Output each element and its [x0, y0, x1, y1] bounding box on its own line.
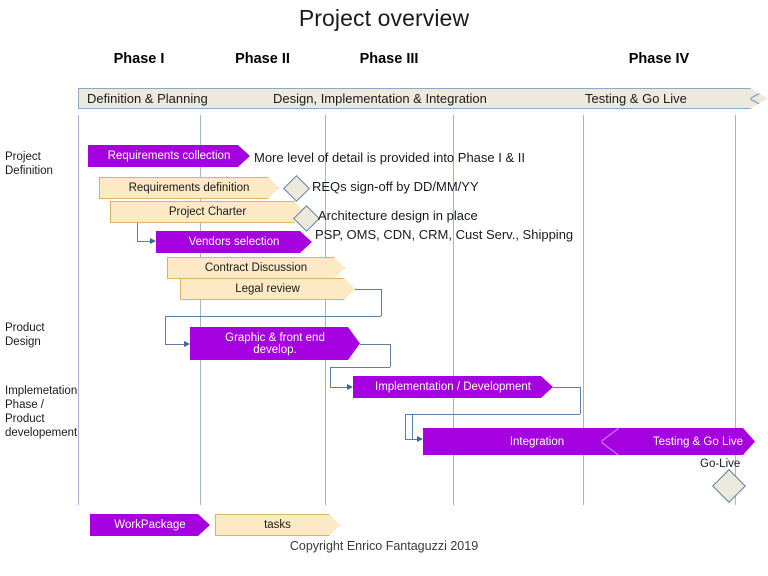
connector-impl-v2: [405, 414, 406, 439]
connector-legal-h3: [165, 344, 185, 345]
page-title: Project overview: [0, 5, 768, 32]
phase-header-4: Phase IV: [583, 51, 735, 67]
bar-label: Legal review: [231, 283, 304, 295]
phase-band-label: Design, Implementation & Integration: [253, 91, 487, 106]
segment-divider-chevron: [601, 428, 619, 455]
connector-arrow-implementation: [347, 384, 353, 390]
note-integrations-list: PSP, OMS, CDN, CRM, Cust Serv., Shipping: [315, 227, 573, 243]
connector-graphic-v1: [390, 344, 391, 367]
bar-requirements-collection[interactable]: Requirements collection: [88, 145, 250, 167]
phase-header-3: Phase III: [325, 51, 453, 67]
milestone-reqs-signoff-icon[interactable]: [283, 175, 310, 202]
bar-requirements-definition[interactable]: Requirements definition: [99, 177, 279, 199]
connector-charter-to-vendors-v: [137, 223, 138, 241]
bar-label-testing-golive: Testing & Go Live: [619, 436, 768, 448]
connector-graphic-h3: [330, 387, 348, 388]
connector-legal-v2: [165, 316, 166, 344]
legend-workpackage: WorkPackage: [90, 514, 210, 536]
phase-band-testing-golive: Testing & Go Live: [565, 88, 750, 109]
connector-legal-v: [381, 289, 382, 316]
bar-legal-review[interactable]: Legal review: [180, 278, 355, 300]
note-more-detail: More level of detail is provided into Ph…: [254, 150, 525, 166]
bar-implementation-development[interactable]: Implementation / Development: [353, 376, 553, 398]
phase-band-label: Definition & Planning: [79, 91, 208, 106]
bar-label-integration: Integration: [453, 436, 621, 448]
phase-band-definition-planning: Definition & Planning: [78, 88, 253, 109]
note-architecture-design: Architecture design in place: [318, 208, 478, 224]
bar-label: Project Charter: [165, 206, 250, 218]
bar-label: Requirements definition: [125, 182, 254, 194]
connector-graphic-h2: [330, 367, 390, 368]
bar-contract-discussion[interactable]: Contract Discussion: [167, 257, 345, 279]
swimlane-label-product-design: Product Design: [5, 321, 77, 349]
connector-arrow-vendors: [150, 238, 156, 244]
phase-band-chevron-3: [750, 88, 768, 109]
swimlane-label-implementation-phase: Implemetation Phase / Product developeme…: [5, 384, 77, 440]
connector-graphic-v2: [330, 367, 331, 387]
phase-banner: Definition & Planning Design, Implementa…: [0, 88, 768, 109]
connector-legal-h2: [165, 316, 381, 317]
bar-label: Implementation / Development: [371, 381, 535, 393]
note-reqs-signoff: REQs sign-off by DD/MM/YY: [312, 179, 479, 195]
phase-header-1: Phase I: [78, 51, 200, 67]
milestone-go-live-icon[interactable]: [712, 469, 746, 503]
connector-arrow-integration: [417, 436, 423, 442]
connector-charter-to-vendors-h: [137, 241, 151, 242]
phase-band-label: Testing & Go Live: [565, 91, 687, 106]
legend-tasks: tasks: [215, 514, 340, 536]
phase-header-2: Phase II: [200, 51, 325, 67]
go-live-label: Go-Live: [700, 458, 740, 470]
legend-label-tasks: tasks: [260, 519, 295, 531]
connector-graphic-h1: [360, 344, 390, 345]
connector-impl-h1: [553, 387, 580, 388]
connector-impl-h2: [405, 414, 580, 415]
bar-label: Vendors selection: [185, 236, 284, 248]
bar-project-charter[interactable]: Project Charter: [110, 201, 305, 223]
bar-graphic-frontend-develop[interactable]: Graphic & front end develop.: [190, 327, 360, 360]
phase-band-design-implementation: Design, Implementation & Integration: [253, 88, 565, 109]
copyright-text: Copyright Enrico Fantaguzzi 2019: [0, 539, 768, 553]
connector-legal-h1: [355, 289, 381, 290]
gridline-3: [325, 115, 326, 505]
swimlane-label-project-definition: Project Definition: [5, 150, 77, 178]
bar-integration-testing[interactable]: Integration Testing & Go Live: [423, 428, 755, 455]
bar-label: Graphic & front end develop.: [207, 332, 343, 356]
bar-label: Contract Discussion: [201, 262, 311, 274]
gridline-1: [78, 115, 79, 505]
connector-impl-v3: [412, 414, 413, 439]
connector-impl-v1: [580, 387, 581, 414]
gridline-2: [200, 115, 201, 505]
bar-label: Requirements collection: [104, 150, 235, 162]
legend-label-workpackage: WorkPackage: [110, 519, 189, 531]
connector-arrow-graphic: [184, 341, 190, 347]
bar-vendors-selection[interactable]: Vendors selection: [156, 231, 312, 253]
gantt-chart-canvas: Project overview Phase I Phase II Phase …: [0, 0, 768, 576]
